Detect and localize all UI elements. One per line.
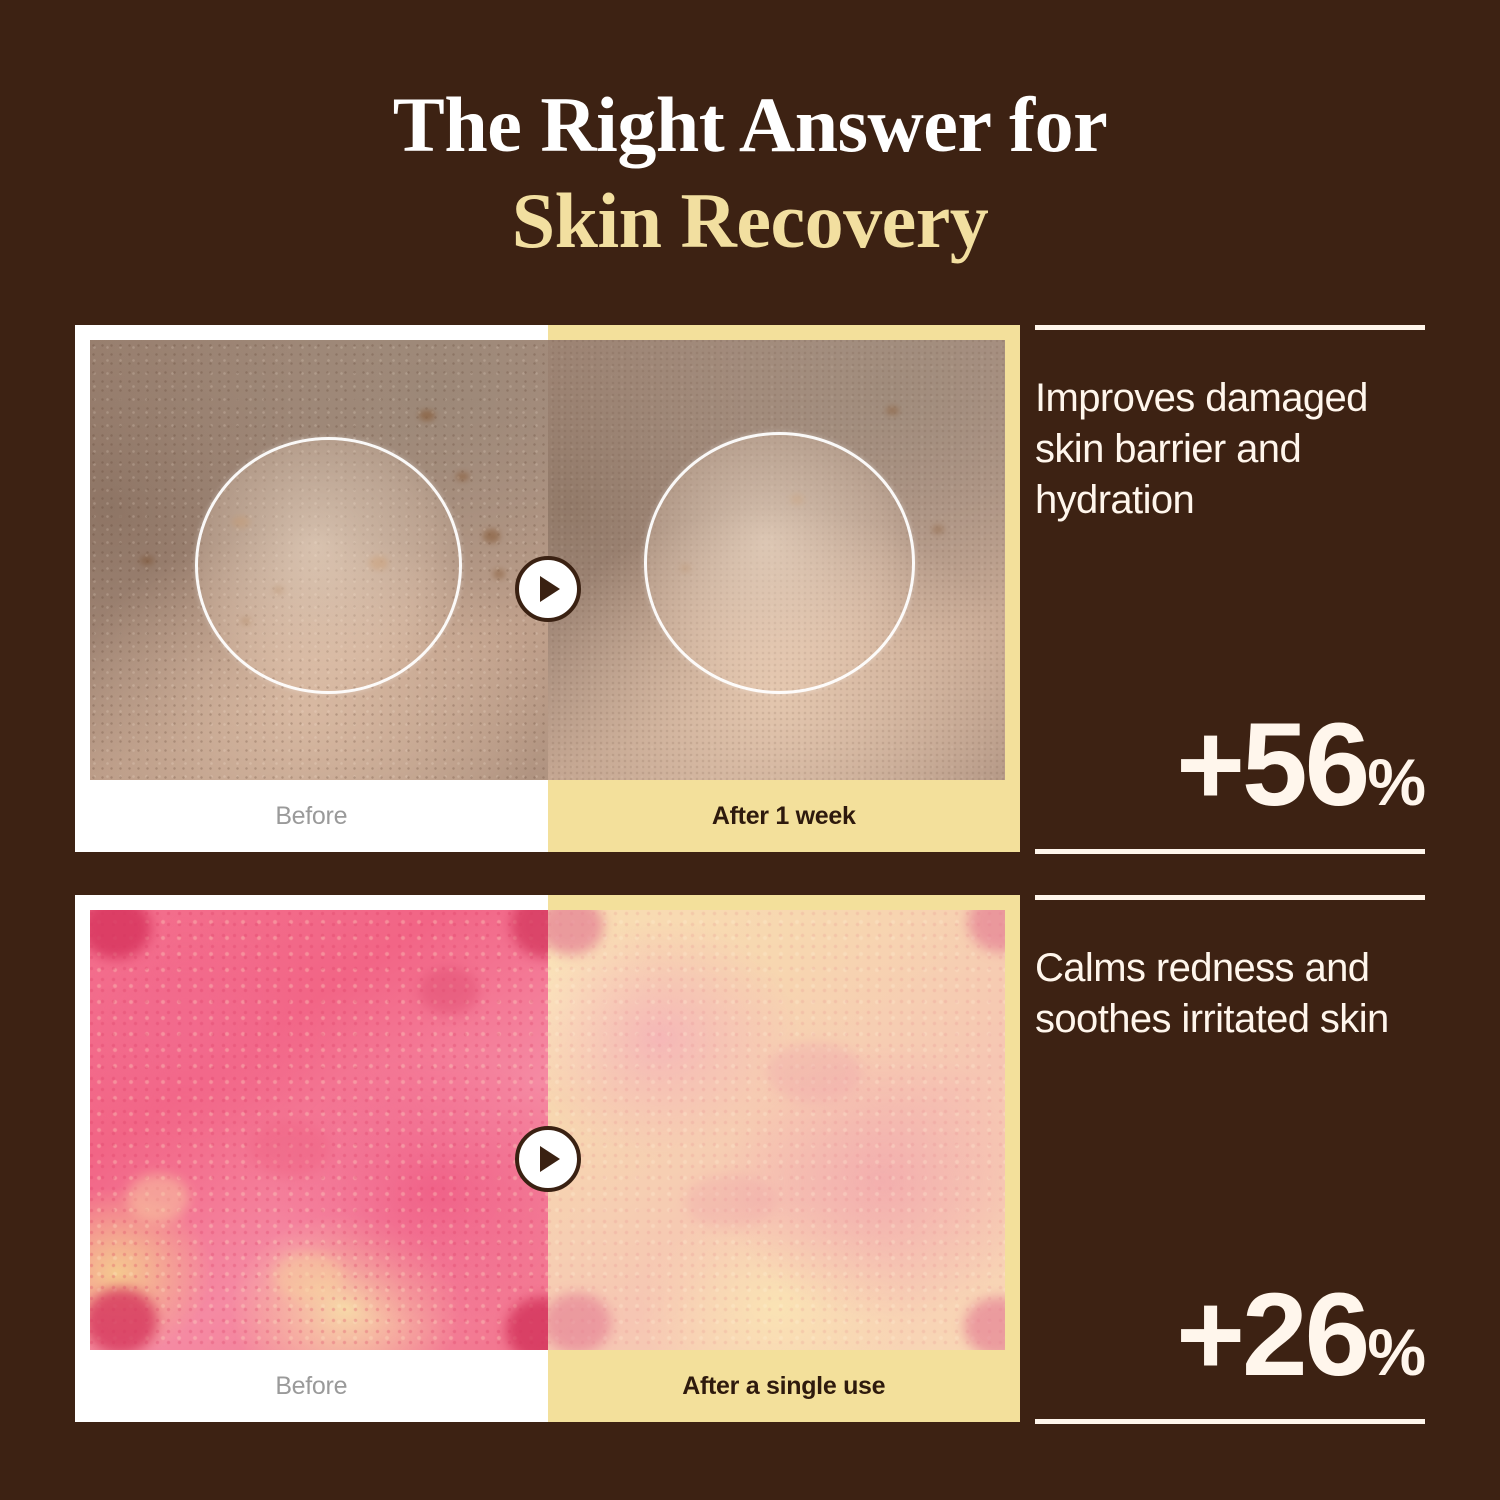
after-photo-2 [548,910,1006,1350]
benefit-block-1: Improves damaged skin barrier and hydrat… [1035,325,1425,852]
skin-noise-overlay [548,910,1006,1350]
play-triangle [540,1146,560,1172]
red-blotch [250,1121,330,1177]
pink-patch [767,1042,862,1102]
red-blotch [548,1293,611,1350]
light-patch [127,1174,189,1222]
before-pane-1: Before [75,325,548,852]
caption-before-1: Before [75,780,548,852]
skin-spot [456,472,469,481]
skin-spot [493,569,505,579]
after-photo-1 [548,340,1006,780]
red-blotch [90,1288,157,1350]
after-pane-1: After 1 week [548,325,1021,852]
before-pane-2: Before [75,895,548,1422]
comparison-card-2: Before After a single use [75,895,1020,1422]
stat-unit-1: % [1367,745,1425,819]
stat-2: +26% [1035,1276,1425,1394]
caption-before-2: Before [75,1350,548,1422]
comparison-card-1: Before After 1 week [75,325,1020,852]
skin-spot [932,525,944,534]
highlight-circle [644,432,915,693]
play-icon[interactable] [515,1126,581,1192]
play-triangle [540,576,560,602]
skin-spot [140,556,154,565]
before-photo-1 [90,340,548,780]
light-patch [273,1253,343,1301]
benefit-block-2: Calms redness and soothes irritated skin… [1035,895,1425,1422]
page-title-line-2: Skin Recovery [0,182,1500,260]
highlight-circle [195,437,462,694]
before-photo-2 [90,910,548,1350]
page-title: The Right Answer for Skin Recovery [0,86,1500,260]
skin-spot [886,406,899,415]
after-pane-2: After a single use [548,895,1021,1422]
stat-1: +56% [1035,706,1425,824]
caption-after-2: After a single use [548,1350,1021,1422]
benefit-text-1: Improves damaged skin barrier and hydrat… [1035,373,1425,527]
stat-unit-2: % [1367,1315,1425,1389]
benefit-text-2: Calms redness and soothes irritated skin [1035,943,1425,1045]
play-icon[interactable] [515,556,581,622]
pink-patch [685,1174,775,1229]
stat-value-2: +26 [1176,1269,1367,1401]
caption-after-1: After 1 week [548,780,1021,852]
page-title-line-1: The Right Answer for [0,86,1500,164]
stat-value-1: +56 [1176,699,1367,831]
